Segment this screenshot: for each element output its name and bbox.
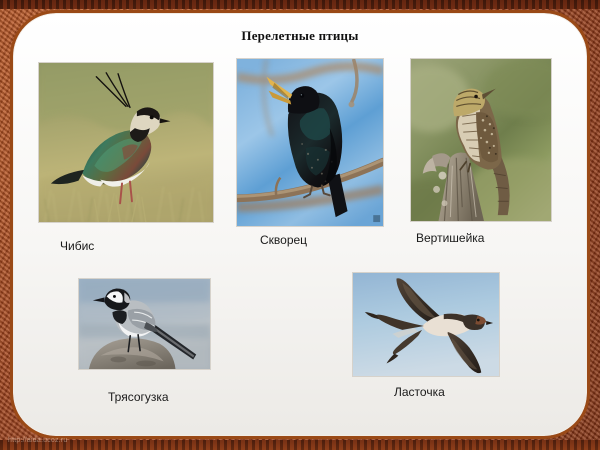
photo-starling[interactable]: [236, 58, 384, 227]
slide-content-area: Перелетные птицы: [14, 14, 586, 435]
caption-starling: Скворец: [260, 233, 307, 247]
caption-lapwing: Чибис: [60, 239, 94, 253]
watermark-text: http://aida.ucoz.ru: [8, 437, 67, 444]
starling-illustration: [237, 59, 383, 226]
caption-swallow: Ласточка: [394, 385, 445, 399]
lapwing-illustration: [39, 63, 213, 222]
caption-wagtail: Трясогузка: [108, 390, 169, 404]
photo-wagtail[interactable]: [78, 278, 211, 370]
photo-wryneck[interactable]: [410, 58, 552, 222]
page-title: Перелетные птицы: [14, 28, 586, 44]
wryneck-illustration: [411, 59, 551, 221]
wagtail-illustration: [79, 279, 210, 369]
slide-frame: http://aida.ucoz.ru Перелетные птицы: [0, 0, 600, 450]
photo-swallow[interactable]: [352, 272, 500, 377]
photo-lapwing[interactable]: [38, 62, 214, 223]
swallow-illustration: [353, 273, 499, 376]
caption-wryneck: Вертишейка: [416, 231, 484, 245]
